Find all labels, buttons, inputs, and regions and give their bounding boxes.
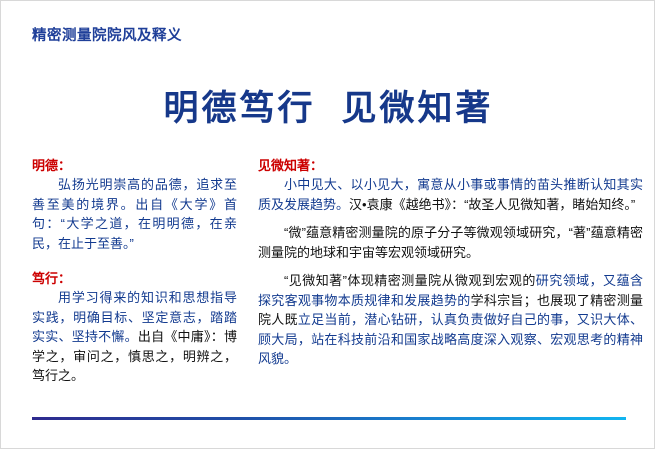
right-paragraph-3-d: 立足当前，潜心钻研，认真负责做好自己的事，又识大体、顾大局，站在科技前沿和国家战… [258, 312, 643, 366]
section-body-mingde: 弘扬光明崇高的品德，追求至善至美的境界。出自《大学》首句：“大学之道，在明明德，… [32, 175, 237, 253]
left-content-column: 明德： 弘扬光明崇高的品德，追求至善至美的境界。出自《大学》首句：“大学之道，在… [32, 157, 237, 386]
section-heading-duxing: 笃行： [32, 270, 237, 287]
slide-header-title: 精密测量院院风及释义 [32, 24, 182, 45]
right-paragraph-3-a: “见微知著”体现精密测量院从微观到宏观的 [284, 273, 536, 288]
slide-canvas: 精密测量院院风及释义 明德笃行见微知著 明德： 弘扬光明崇高的品德，追求至善至美… [0, 0, 655, 449]
right-paragraph-2: “微”蕴意精密测量院的原子分子等微观领域研究，“著”蕴意精密测量院的地球和宇宙等… [258, 223, 643, 262]
section-mingde: 明德： 弘扬光明崇高的品德，追求至善至美的境界。出自《大学》首句：“大学之道，在… [32, 157, 237, 253]
right-paragraph-1-black: 汉•袁康《越绝书》：“故圣人见微知著，睹始知终。” [349, 197, 635, 212]
right-paragraph-3: “见微知著”体现精密测量院从微观到宏观的研究领域，又蕴含探究客观事物本质规律和发… [258, 271, 643, 369]
motto-right-phrase: 见微知著 [342, 88, 494, 129]
bottom-gradient-rule [32, 417, 626, 420]
section-heading-jianweizhizhu: 见微知著： [258, 157, 643, 174]
section-heading-mingde: 明德： [32, 157, 237, 174]
right-column-spacer-2 [258, 262, 643, 271]
slide-motto: 明德笃行见微知著 [1, 80, 655, 131]
section-duxing: 笃行： 用学习得来的知识和思想指导实践，明确目标、坚定意志，踏踏实实、坚持不懈。… [32, 270, 237, 386]
section-body-duxing: 用学习得来的知识和思想指导实践，明确目标、坚定意志，踏踏实实、坚持不懈。出自《中… [32, 288, 237, 386]
right-column-spacer-1 [258, 214, 643, 223]
right-content-column: 见微知著： 小中见大、以小见大，寓意从小事或事情的苗头推断认知其实质及发展趋势。… [258, 157, 643, 369]
column-spacer [32, 253, 237, 270]
motto-left-phrase: 明德笃行 [163, 88, 315, 129]
right-paragraph-1: 小中见大、以小见大，寓意从小事或事情的苗头推断认知其实质及发展趋势。汉•袁康《越… [258, 175, 643, 214]
